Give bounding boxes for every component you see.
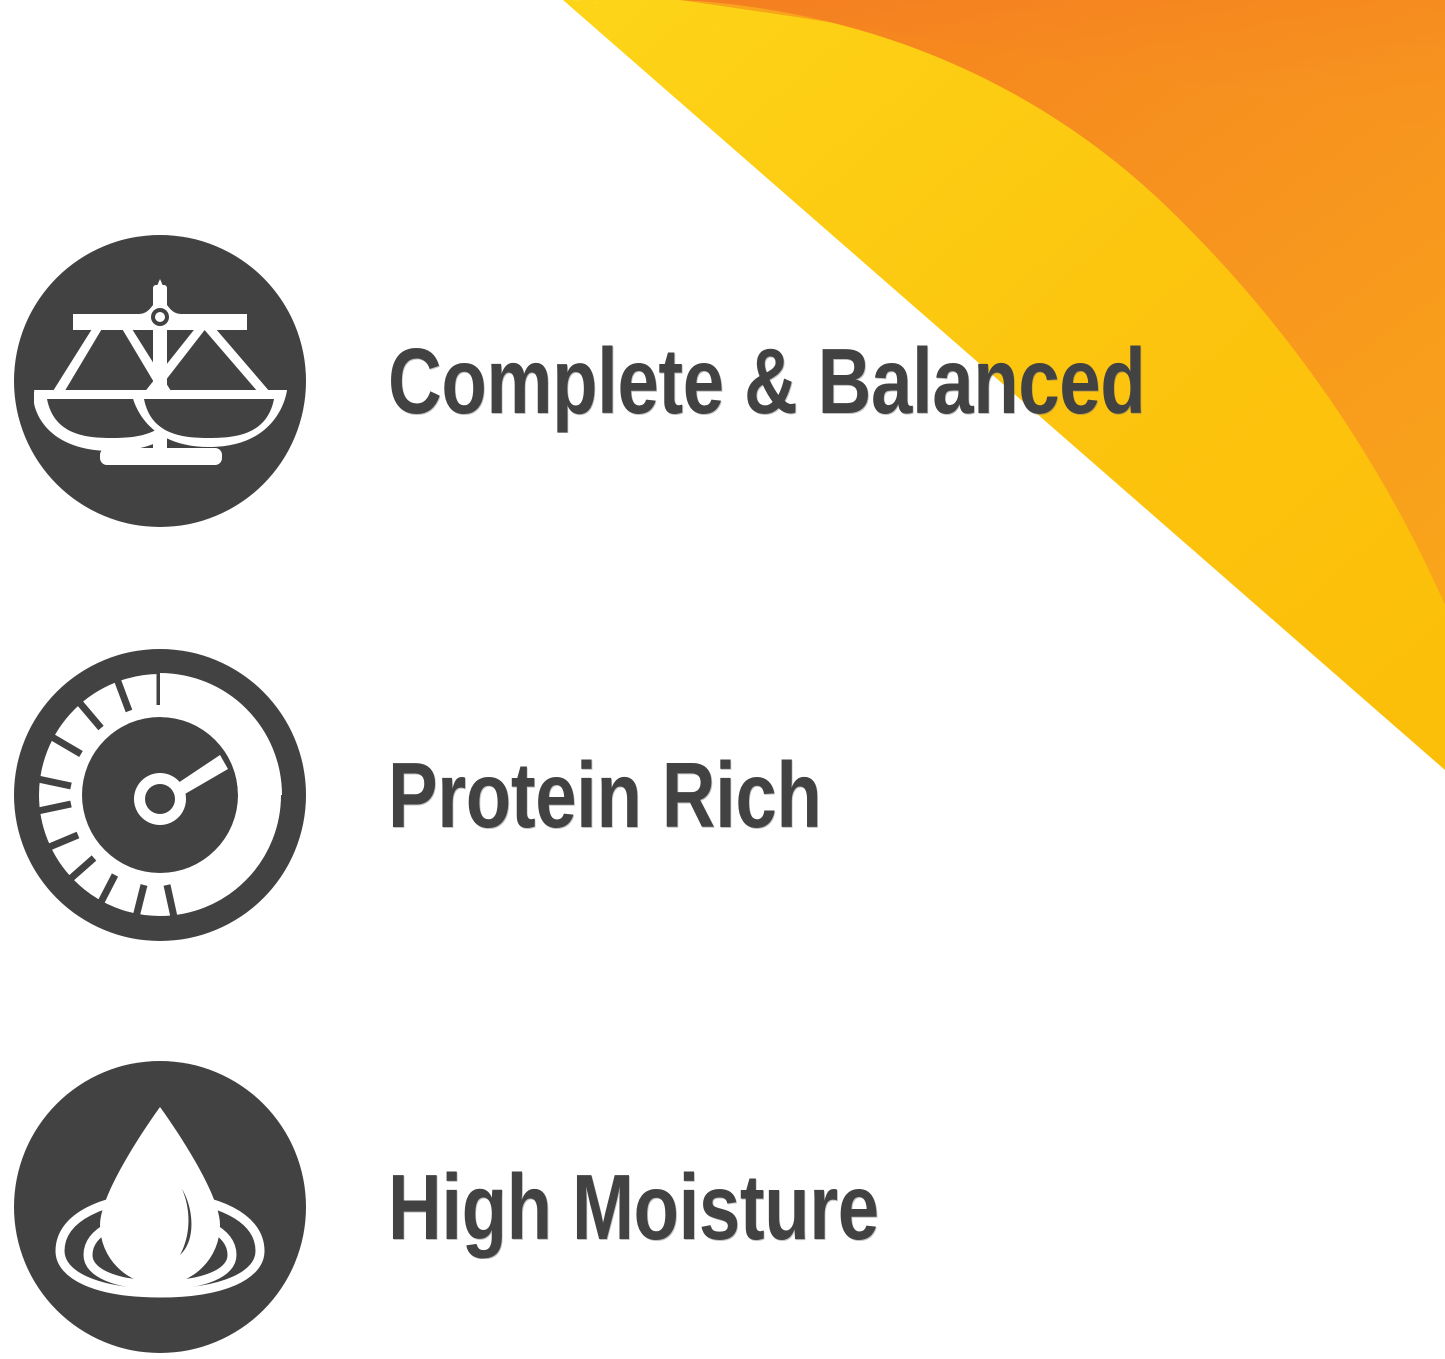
feature-label-protein-rich: Protein Rich — [388, 749, 821, 842]
water-drop-ripple-icon — [14, 1061, 306, 1353]
speedometer-gauge-icon — [14, 649, 306, 941]
feature-label-complete-and-balanced: Complete & Balanced — [388, 335, 1145, 428]
feature-item-complete-and-balanced: Complete & Balanced — [0, 231, 1100, 531]
feature-highlights-panel: Complete & Balanced — [0, 0, 1445, 1359]
balance-scale-icon — [14, 235, 306, 527]
balance-scale-icon-graphic — [14, 235, 306, 527]
water-drop-ripple-icon-graphic — [14, 1061, 306, 1353]
gauge-hub-inner — [145, 784, 175, 814]
swoosh-orange-highlight — [680, 0, 1445, 130]
feature-item-protein-rich: Protein Rich — [0, 645, 1100, 945]
speedometer-gauge-icon-graphic — [14, 649, 306, 941]
feature-label-high-moisture: High Moisture — [388, 1161, 879, 1254]
feature-item-high-moisture: High Moisture — [0, 1057, 1100, 1357]
